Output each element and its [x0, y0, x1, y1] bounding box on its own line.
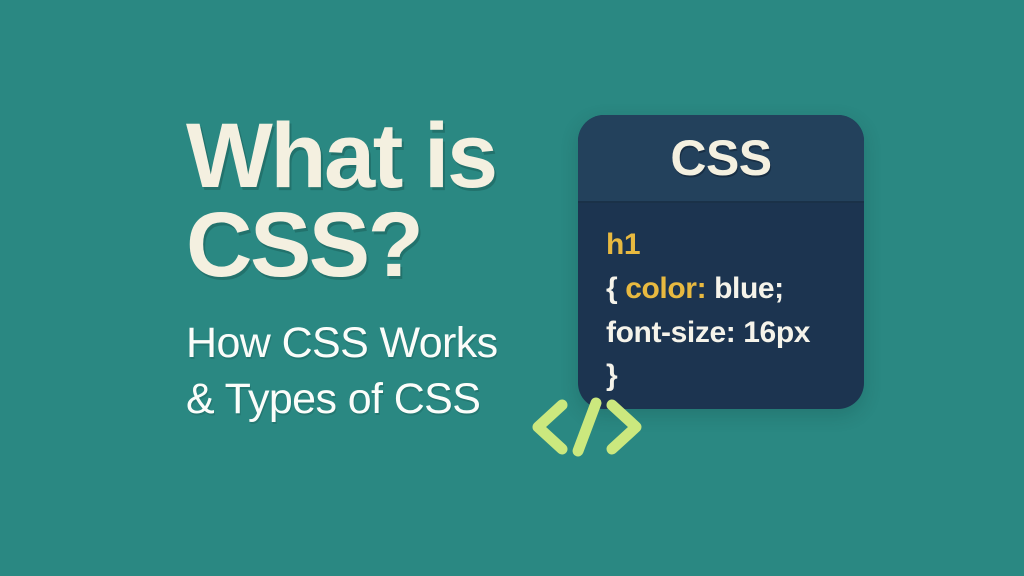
slide-canvas: What is CSS? How CSS Works & Types of CS…: [0, 0, 1024, 576]
code-token-open-brace: {: [606, 272, 625, 305]
code-token-property-font-size: font-size:: [606, 316, 735, 349]
card-header-title: CSS: [670, 129, 771, 187]
code-token-selector: h1: [606, 228, 640, 261]
page-subtitle-line-1: How CSS Works: [186, 316, 576, 371]
css-code-card: CSS h1 { color: blue; font-size: 16px }: [578, 115, 864, 409]
card-header: CSS: [578, 115, 864, 203]
page-title-line-1: What is: [186, 112, 576, 201]
code-token-close-brace: }: [606, 359, 617, 392]
card-code-body: h1 { color: blue; font-size: 16px }: [578, 203, 864, 398]
code-token-space-1: [706, 272, 714, 305]
code-line-2: { color: blue;: [606, 267, 864, 311]
page-title: What is CSS?: [186, 112, 576, 290]
code-brackets-icon: [528, 392, 646, 462]
page-title-line-2: CSS?: [186, 201, 576, 290]
code-line-1: h1: [606, 223, 864, 267]
code-token-value-16px: 16px: [743, 316, 810, 349]
page-subtitle-line-2: & Types of CSS: [186, 372, 576, 427]
code-token-value-blue: blue;: [714, 272, 784, 305]
page-subtitle: How CSS Works & Types of CSS: [186, 290, 576, 426]
headline-block: What is CSS? How CSS Works & Types of CS…: [186, 112, 576, 427]
code-token-property-color: color:: [625, 272, 706, 305]
code-line-3: font-size: 16px: [606, 311, 864, 355]
